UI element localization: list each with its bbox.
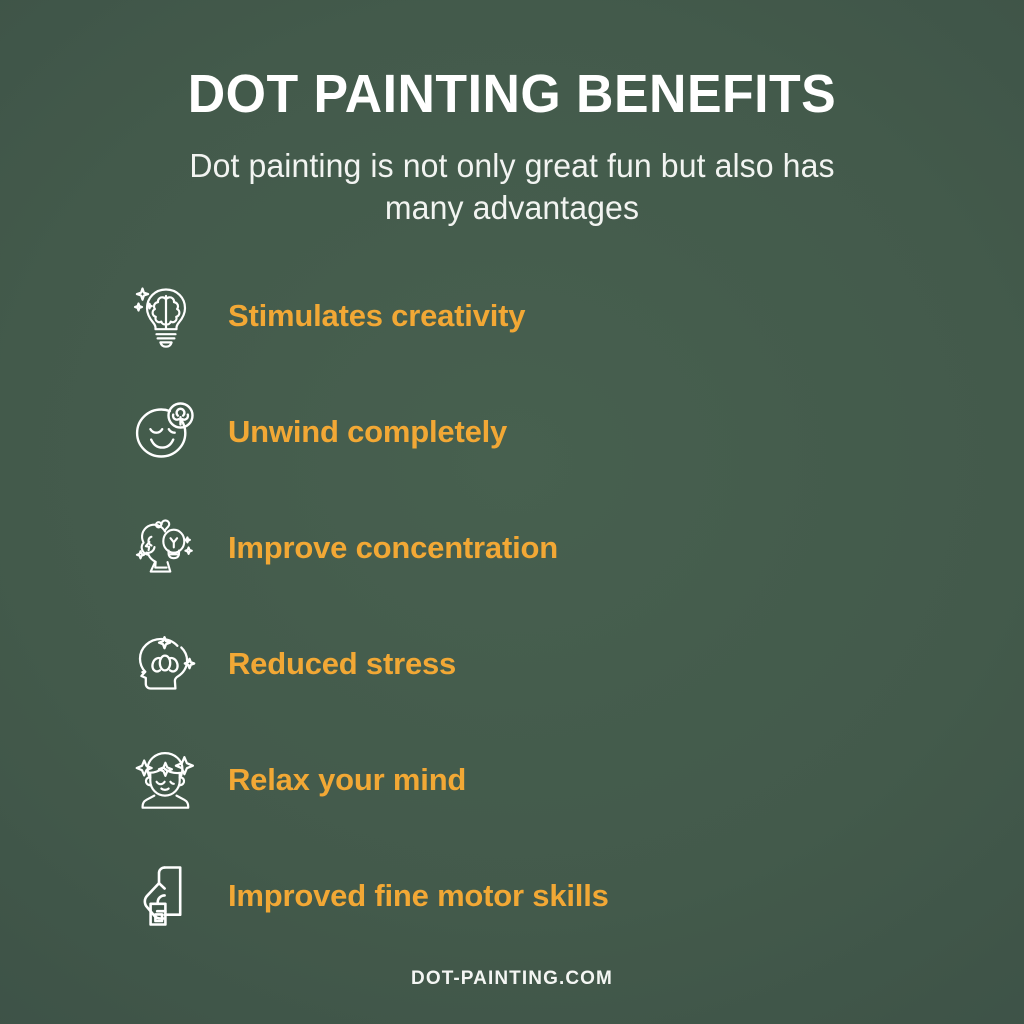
list-item: Unwind completely (124, 388, 924, 476)
brain-lightbulb-icon (124, 275, 206, 357)
poster-header: DOT PAINTING BENEFITS Dot painting is no… (0, 66, 1024, 230)
smiling-face-flower-icon (124, 391, 206, 473)
page-title: DOT PAINTING BENEFITS (20, 66, 1003, 123)
list-item-label: Improve concentration (228, 530, 558, 566)
hand-pinching-icon (124, 855, 206, 937)
benefits-list: Stimulates creativity Unwind complet (124, 272, 924, 968)
list-item: Improve concentration (124, 504, 924, 592)
head-profile-lightbulb-icon (124, 507, 206, 589)
list-item-label: Reduced stress (228, 646, 456, 682)
poster-footer: DOT-PAINTING.COM (0, 968, 1024, 990)
list-item-label: Unwind completely (228, 414, 507, 450)
poster-canvas: DOT PAINTING BENEFITS Dot painting is no… (0, 0, 1024, 1024)
page-subtitle: Dot painting is not only great fun but a… (153, 145, 871, 229)
list-item: Reduced stress (124, 620, 924, 708)
website-url: DOT-PAINTING.COM (411, 968, 613, 989)
list-item-label: Improved fine motor skills (228, 878, 609, 914)
list-item-label: Relax your mind (228, 762, 466, 798)
list-item: Improved fine motor skills (124, 852, 924, 940)
calm-face-stars-icon (124, 739, 206, 821)
head-lotus-sparkle-icon (124, 623, 206, 705)
list-item-label: Stimulates creativity (228, 298, 525, 334)
list-item: Stimulates creativity (124, 272, 924, 360)
list-item: Relax your mind (124, 736, 924, 824)
